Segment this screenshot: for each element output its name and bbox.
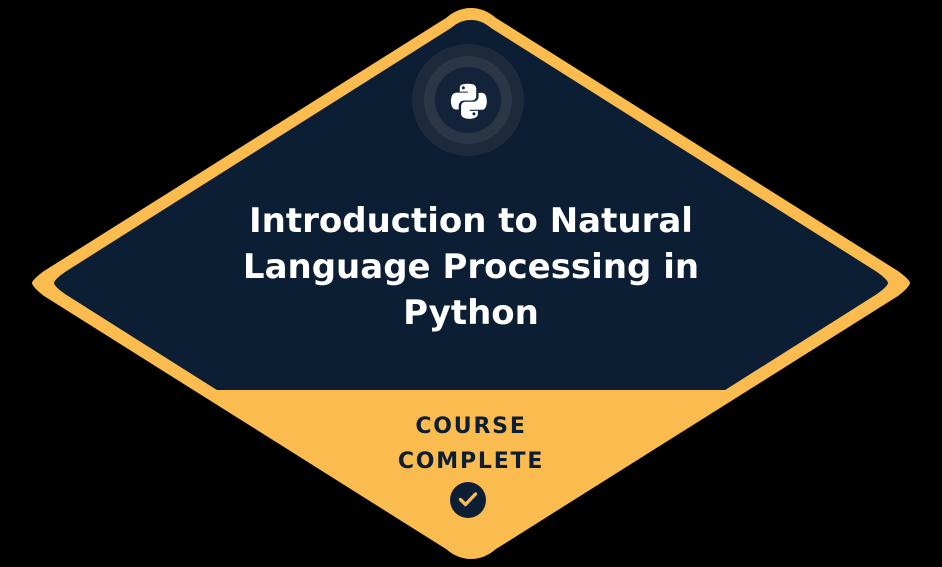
check-circle-icon (450, 482, 486, 518)
completion-status-label: COURSE COMPLETE (171, 409, 771, 479)
course-title: Introduction to Natural Language Process… (171, 198, 771, 336)
certificate-badge: Introduction to Natural Language Process… (0, 0, 942, 567)
python-logo-icon (449, 81, 487, 119)
python-emblem (412, 44, 524, 156)
checkmark-glyph (458, 491, 478, 509)
